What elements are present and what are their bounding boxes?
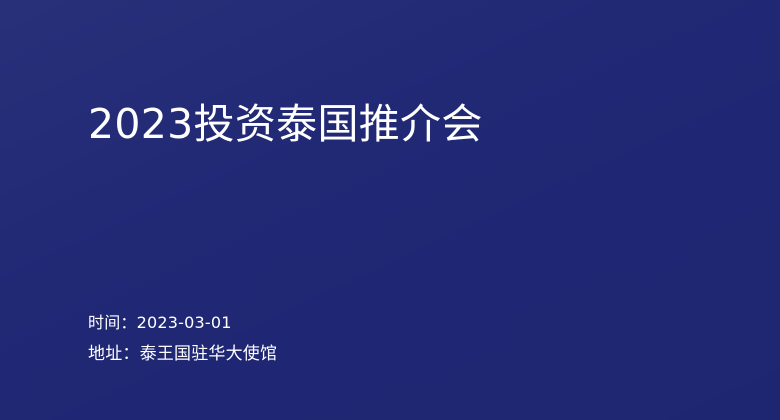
page-title: 2023投资泰国推介会 <box>88 101 708 147</box>
event-address-line: 地址：泰王国驻华大使馆 <box>88 343 608 366</box>
title-slide: 2023投资泰国推介会 时间：2023-03-01 地址：泰王国驻华大使馆 <box>0 0 780 420</box>
meta-block: 时间：2023-03-01 地址：泰王国驻华大使馆 <box>88 312 608 366</box>
event-time-value: 2023-03-01 <box>137 313 232 332</box>
event-address-label: 地址： <box>88 344 140 364</box>
event-time-label: 时间： <box>88 313 137 332</box>
title-block: 2023投资泰国推介会 <box>88 101 708 147</box>
event-time-line: 时间：2023-03-01 <box>88 312 608 334</box>
event-address-value: 泰王国驻华大使馆 <box>140 344 278 364</box>
